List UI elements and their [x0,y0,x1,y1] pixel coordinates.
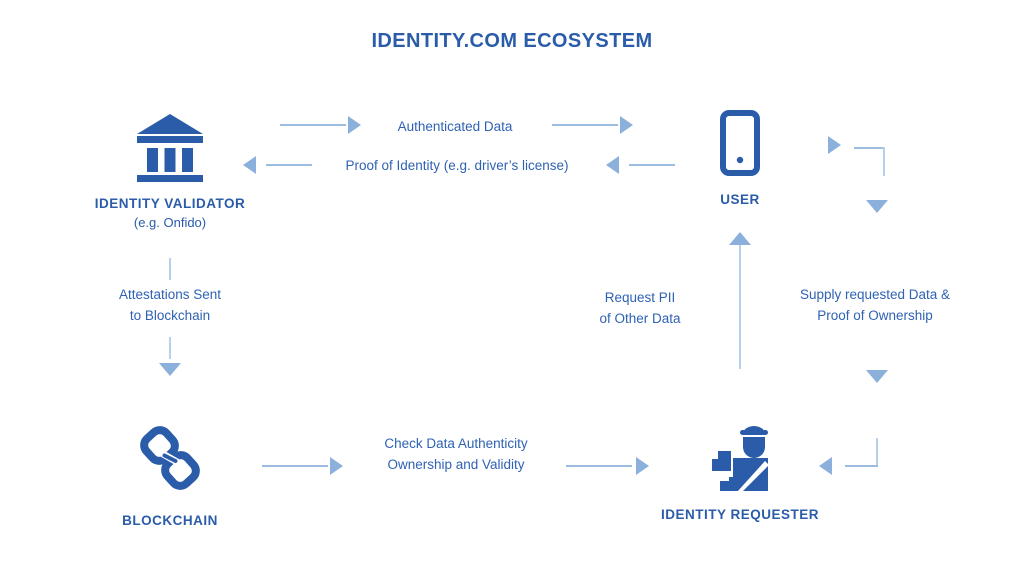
node-identity-validator: IDENTITY VALIDATOR (e.g. Onfido) [70,110,270,230]
flow-label-request-pii-line2: of Other Data [570,309,710,330]
supply-data-elbow-bottom-horizontal [845,465,878,467]
flow-label-check-data-line1: Check Data Authenticity [353,434,559,455]
proof-of-identity-arrowhead-right [606,156,619,174]
node-sublabel-identity-validator: (e.g. Onfido) [70,215,270,230]
flow-label-supply-data: Supply requested Data & Proof of Ownersh… [772,285,978,327]
flow-label-check-data: Check Data Authenticity Ownership and Va… [353,434,559,476]
node-user: USER [680,110,800,207]
check-data-line-left [262,465,328,467]
request-pii-line [739,245,741,369]
attestations-line-top [169,258,171,280]
authenticated-data-arrowhead-left [348,116,361,134]
check-data-line-right [566,465,632,467]
request-pii-arrowhead [729,232,751,245]
supply-data-arrowhead-lower [866,370,888,383]
flow-label-supply-data-line2: Proof of Ownership [772,306,978,327]
supply-data-elbow-bottom-vertical [876,438,878,467]
mobile-phone-icon [720,110,760,176]
flow-label-attestations-line1: Attestations Sent [79,285,261,306]
flow-label-proof-of-identity: Proof of Identity (e.g. driver’s license… [313,156,601,177]
node-label-identity-validator: IDENTITY VALIDATOR [70,196,270,211]
proof-of-identity-line-right [629,164,675,166]
flow-label-authenticated-data: Authenticated Data [365,117,545,138]
node-label-blockchain: BLOCKCHAIN [110,513,230,528]
proof-of-identity-arrowhead-left [243,156,256,174]
check-data-arrowhead-right [636,457,649,475]
node-label-user: USER [680,192,800,207]
chain-link-icon [134,425,206,491]
supply-data-arrowhead-bottom [819,457,832,475]
supply-data-elbow-top-vertical [883,147,885,176]
bank-icon [135,110,205,182]
node-identity-requester: IDENTITY REQUESTER [640,425,840,522]
flow-label-supply-data-line1: Supply requested Data & [772,285,978,306]
flow-label-request-pii: Request PII of Other Data [570,288,710,330]
supply-data-elbow-top-horizontal [854,147,885,149]
authenticated-data-line-right [552,124,618,126]
page-title: IDENTITY.COM ECOSYSTEM [0,30,1024,53]
attestations-line-bottom [169,337,171,359]
flow-label-attestations-sent: Attestations Sent to Blockchain [79,285,261,327]
attestations-arrowhead [159,363,181,376]
node-blockchain: BLOCKCHAIN [110,425,230,528]
supply-data-arrowhead-top [828,136,841,154]
node-label-identity-requester: IDENTITY REQUESTER [640,507,840,522]
officer-icon [702,425,778,493]
authenticated-data-line-left [280,124,346,126]
flow-label-request-pii-line1: Request PII [570,288,710,309]
diagram-canvas: IDENTITY.COM ECOSYSTEM IDENTITY VALIDATO… [0,0,1024,569]
flow-label-attestations-line2: to Blockchain [79,306,261,327]
proof-of-identity-line-left [266,164,312,166]
supply-data-arrowhead-upper [866,200,888,213]
check-data-arrowhead-left [330,457,343,475]
flow-label-check-data-line2: Ownership and Validity [353,455,559,476]
authenticated-data-arrowhead-right [620,116,633,134]
